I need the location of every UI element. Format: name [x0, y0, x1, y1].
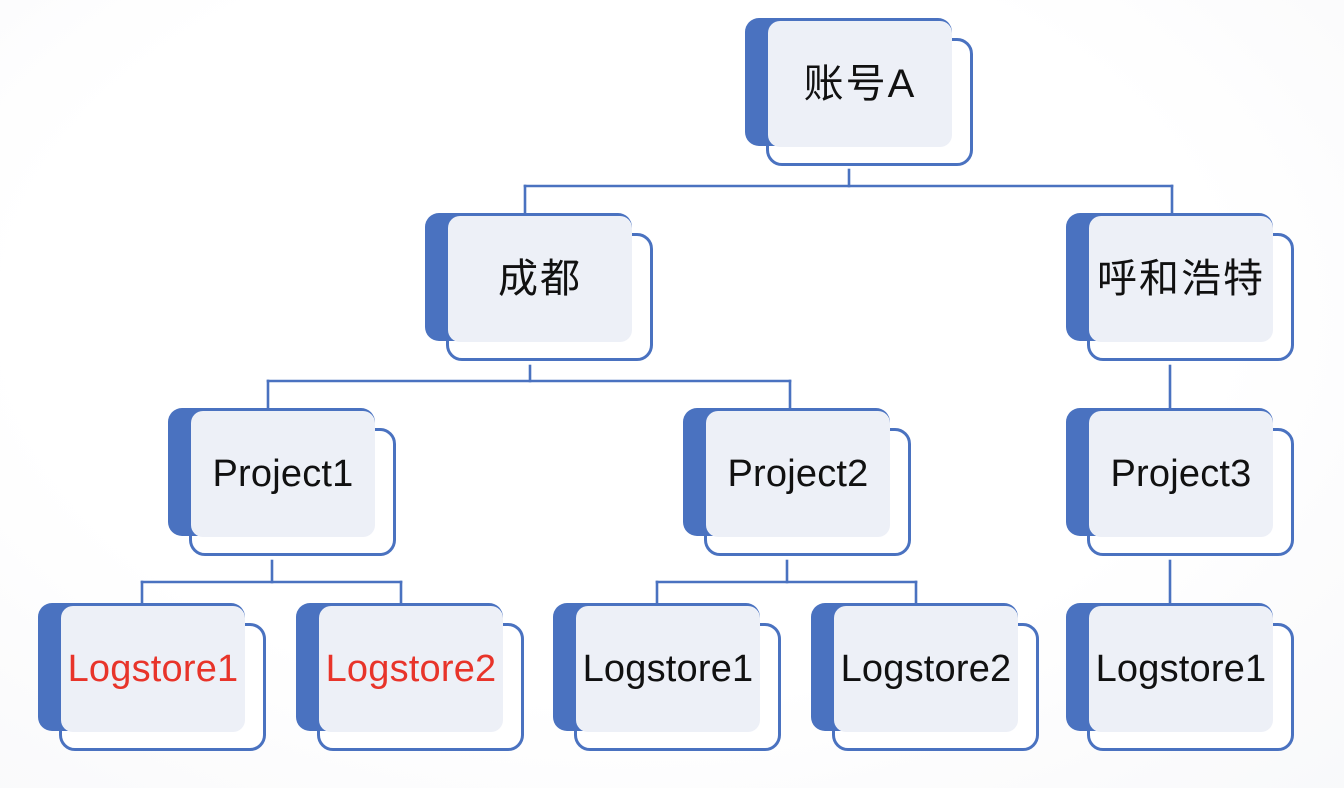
node-panel-region-hohhot: 呼和浩特: [1089, 216, 1273, 342]
node-project2[interactable]: Project2: [683, 408, 911, 556]
node-label-p3-logstore1: Logstore1: [1096, 650, 1267, 688]
node-label-p2-logstore1: Logstore1: [583, 650, 754, 688]
node-label-account-a: 账号A: [804, 64, 917, 104]
diagram-canvas: 账号A成都呼和浩特Project1Project2Project3Logstor…: [0, 0, 1344, 788]
node-panel-project1: Project1: [191, 411, 375, 537]
node-panel-p2-logstore1: Logstore1: [576, 606, 760, 732]
node-panel-project2: Project2: [706, 411, 890, 537]
node-region-hohhot[interactable]: 呼和浩特: [1066, 213, 1294, 361]
node-region-chengdu[interactable]: 成都: [425, 213, 653, 361]
node-panel-p1-logstore2: Logstore2: [319, 606, 503, 732]
node-label-p2-logstore2: Logstore2: [841, 650, 1012, 688]
node-panel-account-a: 账号A: [768, 21, 952, 147]
node-label-project2: Project2: [727, 455, 868, 493]
node-p2-logstore1[interactable]: Logstore1: [553, 603, 781, 751]
node-project3[interactable]: Project3: [1066, 408, 1294, 556]
node-panel-p2-logstore2: Logstore2: [834, 606, 1018, 732]
node-panel-region-chengdu: 成都: [448, 216, 632, 342]
node-account-a[interactable]: 账号A: [745, 18, 973, 166]
node-label-project1: Project1: [212, 455, 353, 493]
node-project1[interactable]: Project1: [168, 408, 396, 556]
node-panel-project3: Project3: [1089, 411, 1273, 537]
node-label-p1-logstore2: Logstore2: [326, 650, 497, 688]
node-panel-p1-logstore1: Logstore1: [61, 606, 245, 732]
node-p2-logstore2[interactable]: Logstore2: [811, 603, 1039, 751]
node-p1-logstore2[interactable]: Logstore2: [296, 603, 524, 751]
node-label-project3: Project3: [1110, 455, 1251, 493]
node-p1-logstore1[interactable]: Logstore1: [38, 603, 266, 751]
node-label-p1-logstore1: Logstore1: [68, 650, 239, 688]
node-p3-logstore1[interactable]: Logstore1: [1066, 603, 1294, 751]
node-panel-p3-logstore1: Logstore1: [1089, 606, 1273, 732]
node-label-region-hohhot: 呼和浩特: [1097, 259, 1265, 299]
node-label-region-chengdu: 成都: [498, 259, 582, 299]
